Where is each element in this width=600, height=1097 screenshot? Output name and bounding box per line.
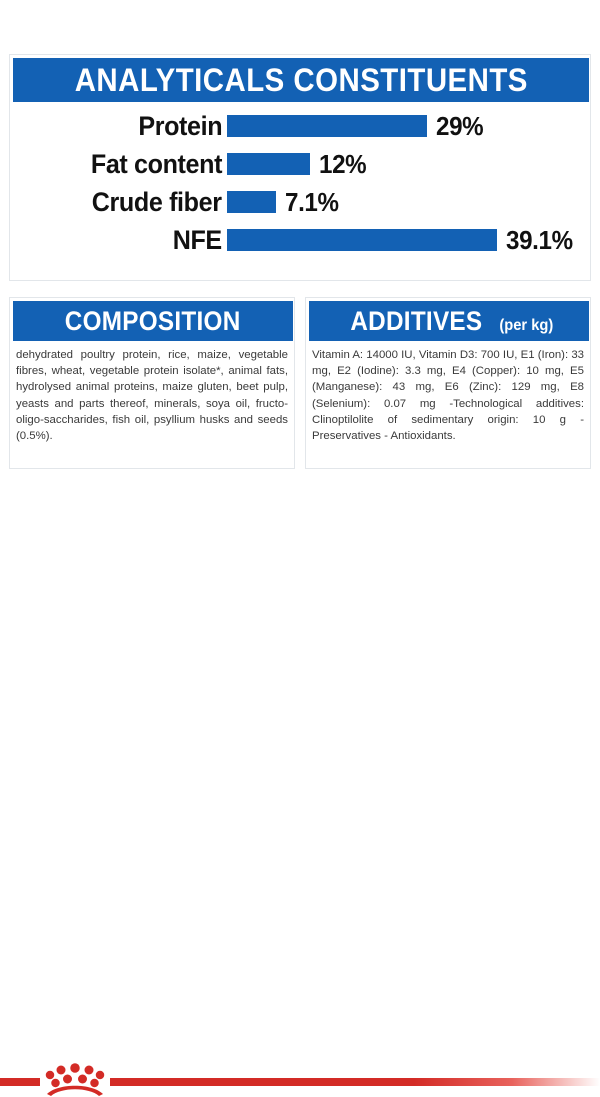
bar-fill	[227, 153, 310, 175]
composition-banner-inner: COMPOSITION	[55, 308, 250, 335]
additives-title-suffix: (per kg)	[499, 317, 553, 335]
analytical-constituents-panel: ANALYTICALS CONSTITUENTS Protein 29% Fat…	[9, 54, 591, 281]
analytical-constituents-title: ANALYTICALS CONSTITUENTS	[74, 64, 527, 96]
analytical-constituents-banner: ANALYTICALS CONSTITUENTS	[13, 58, 589, 102]
bar-value: 7.1%	[285, 189, 339, 215]
composition-panel: COMPOSITION dehydrated poultry protein, …	[9, 297, 295, 469]
composition-banner: COMPOSITION	[13, 301, 293, 341]
footer-rule-right	[110, 1078, 600, 1086]
analytical-constituents-bar-chart: Protein 29% Fat content 12% Crude fiber	[10, 107, 590, 277]
bar-value: 39.1%	[506, 227, 573, 253]
composition-text: dehydrated poultry protein, rice, maize,…	[14, 347, 290, 444]
bar-value: 12%	[319, 151, 366, 177]
bar-label: Fat content	[91, 151, 222, 178]
royal-canin-crown-icon	[40, 1057, 110, 1097]
bar-row: Crude fiber 7.1%	[10, 183, 590, 221]
bar-row: NFE 39.1%	[10, 221, 590, 259]
bar-track: 39.1%	[227, 221, 578, 259]
bar-fill	[227, 115, 427, 137]
bar-row: Fat content 12%	[10, 145, 590, 183]
bar-value: 29%	[436, 113, 483, 139]
bar-label: Protein	[138, 113, 222, 140]
additives-banner-inner: ADDITIVES (per kg)	[343, 308, 555, 335]
additives-text: Vitamin A: 14000 IU, Vitamin D3: 700 IU,…	[310, 347, 586, 444]
additives-banner: ADDITIVES (per kg)	[309, 301, 589, 341]
bar-label: Crude fiber	[92, 189, 222, 216]
bar-fill	[227, 229, 497, 251]
additives-title: ADDITIVES	[350, 308, 482, 335]
bar-label: NFE	[173, 227, 222, 254]
bar-fill	[227, 191, 276, 213]
bar-track: 7.1%	[227, 183, 343, 221]
bar-row: Protein 29%	[10, 107, 590, 145]
footer-rule-left	[0, 1078, 40, 1086]
label-page: ANALYTICALS CONSTITUENTS Protein 29% Fat…	[0, 0, 600, 600]
composition-title: COMPOSITION	[65, 308, 241, 335]
footer	[0, 510, 600, 600]
additives-panel: ADDITIVES (per kg) Vitamin A: 14000 IU, …	[305, 297, 591, 469]
bar-track: 12%	[227, 145, 370, 183]
bar-track: 29%	[227, 107, 487, 145]
